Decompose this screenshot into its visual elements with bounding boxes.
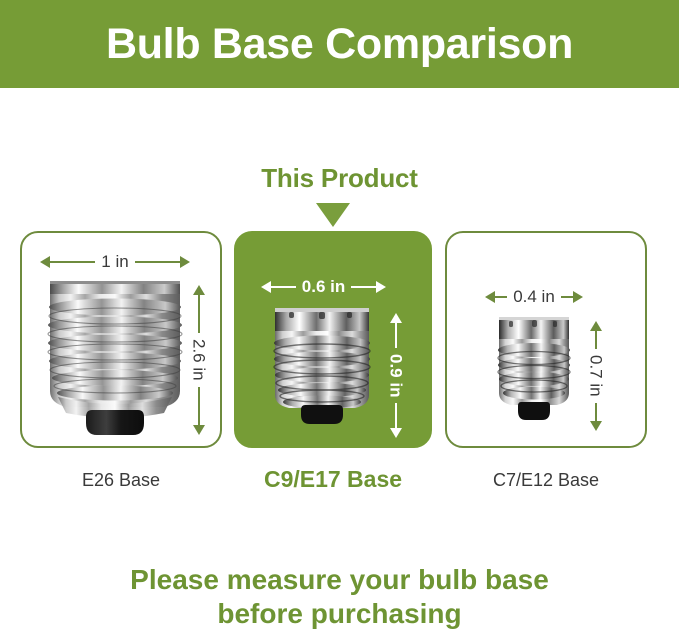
arrow-head-left-icon: [261, 281, 271, 293]
dimension-width-label: 0.6 in: [296, 278, 351, 295]
dimension-line: [271, 286, 296, 288]
arrow-head-up-icon: [390, 313, 402, 323]
bulb-base-image-c9e17: [267, 305, 377, 427]
dimension-height-c7e12: 0.7 in: [589, 321, 603, 431]
footer-line-1: Please measure your bulb base: [0, 563, 679, 597]
dimension-line: [395, 403, 397, 428]
arrow-head-down-icon: [193, 425, 205, 435]
caption-e26: E26 Base: [20, 470, 222, 491]
footer-note: Please measure your bulb base before pur…: [0, 563, 679, 631]
caption-c9e17: C9/E17 Base: [234, 466, 432, 493]
bulb-base-comparison-infographic: Bulb Base Comparison This Product: [0, 0, 679, 638]
arrow-head-left-icon: [40, 256, 50, 268]
dimension-line: [135, 261, 180, 263]
arrow-head-down-icon: [590, 421, 602, 431]
caption-c7e12: C7/E12 Base: [445, 470, 647, 491]
base-card-c7e12[interactable]: 0.4 in 0.7 in: [445, 231, 647, 448]
page-title: Bulb Base Comparison: [106, 23, 573, 66]
arrow-head-up-icon: [590, 321, 602, 331]
arrow-head-left-icon: [485, 291, 495, 303]
dimension-line: [395, 323, 397, 348]
dimension-line: [561, 296, 573, 298]
dimension-height-label: 0.7 in: [588, 349, 605, 403]
dimension-line: [50, 261, 95, 263]
dimension-width-label: 1 in: [95, 253, 134, 270]
dimension-line: [198, 387, 200, 425]
dimension-height-label: 2.6 in: [191, 333, 208, 387]
bulb-base-image-c7e12: [493, 315, 575, 427]
dimension-line: [198, 295, 200, 333]
arrow-head-right-icon: [180, 256, 190, 268]
dimension-line: [595, 403, 597, 421]
arrow-head-down-icon: [390, 428, 402, 438]
dimension-height-label: 0.9 in: [388, 348, 405, 403]
base-card-c9e17[interactable]: 0.6 in 0.9 in: [234, 231, 432, 448]
dimension-line: [595, 331, 597, 349]
triangle-down-icon: [316, 203, 350, 227]
this-product-callout: This Product: [0, 163, 679, 194]
dimension-width-e26: 1 in: [40, 255, 190, 269]
arrow-head-right-icon: [573, 291, 583, 303]
dimension-height-c9e17: 0.9 in: [389, 313, 403, 438]
base-card-e26[interactable]: 1 in 2.6 in: [20, 231, 222, 448]
dimension-line: [351, 286, 376, 288]
dimension-line: [495, 296, 507, 298]
dimension-width-c9e17: 0.6 in: [261, 280, 386, 294]
this-product-label: This Product: [261, 163, 418, 193]
header-banner: Bulb Base Comparison: [0, 0, 679, 88]
footer-line-2: before purchasing: [0, 597, 679, 631]
arrow-head-up-icon: [193, 285, 205, 295]
bulb-base-image-e26: [40, 277, 190, 435]
dimension-height-e26: 2.6 in: [192, 285, 206, 435]
dimension-width-c7e12: 0.4 in: [485, 290, 583, 304]
dimension-width-label: 0.4 in: [507, 288, 561, 305]
arrow-head-right-icon: [376, 281, 386, 293]
